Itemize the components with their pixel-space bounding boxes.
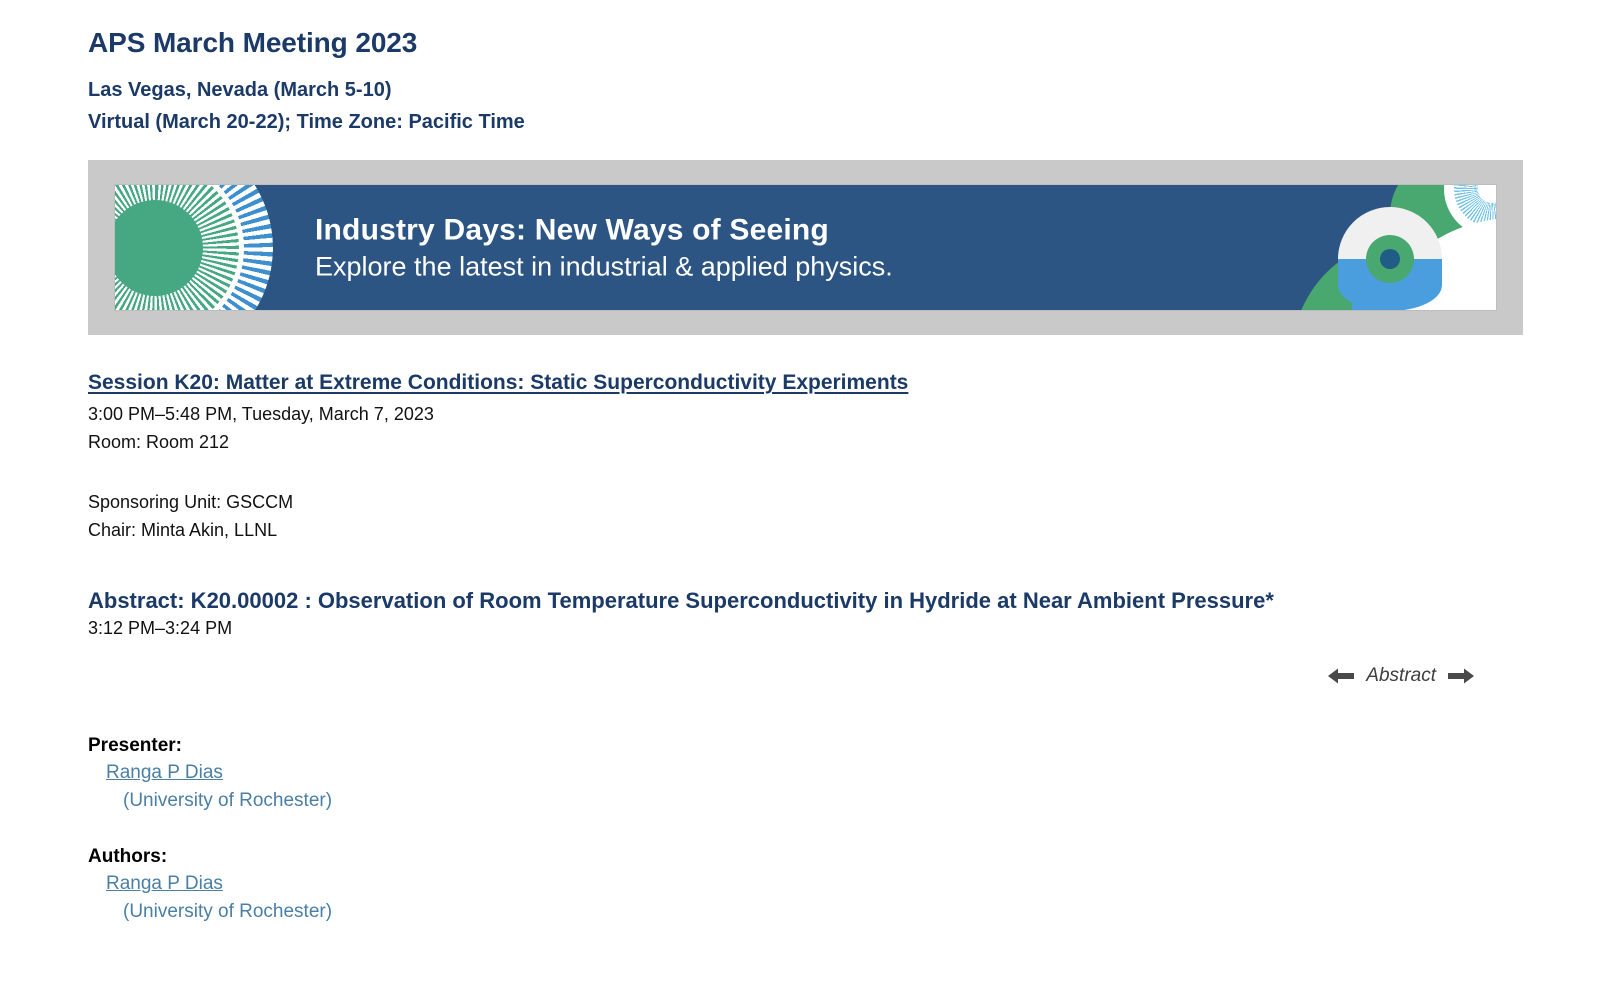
banner-text: Industry Days: New Ways of Seeing Explor… — [315, 212, 893, 283]
right-arrow-icon[interactable] — [1448, 667, 1474, 685]
presenter-block: Presenter: Ranga P Dias (University of R… — [88, 735, 1534, 814]
session-title-link[interactable]: Session K20: Matter at Extreme Condition… — [88, 371, 908, 395]
abstract-time: 3:12 PM–3:24 PM — [88, 618, 1534, 639]
session-time-date: 3:00 PM–5:48 PM, Tuesday, March 7, 2023 — [88, 401, 1534, 429]
left-arrow-icon[interactable] — [1328, 667, 1354, 685]
meeting-location: Las Vegas, Nevada (March 5-10) Virtual (… — [88, 74, 1534, 139]
presenter-heading: Presenter: — [88, 735, 1534, 757]
starburst-icon — [114, 184, 273, 311]
session-meta: 3:00 PM–5:48 PM, Tuesday, March 7, 2023 … — [88, 401, 1534, 457]
author-entry: Ranga P Dias (University of Rochester) — [106, 870, 1534, 925]
meeting-location-line-2: Virtual (March 20-22); Time Zone: Pacifi… — [88, 106, 1534, 138]
abstract-navigation: Abstract — [88, 665, 1534, 687]
presenter-name-link[interactable]: Ranga P Dias — [106, 759, 1534, 787]
author-name-link[interactable]: Ranga P Dias — [106, 870, 1534, 898]
industry-days-banner[interactable]: Industry Days: New Ways of Seeing Explor… — [114, 184, 1497, 311]
eye-motif-icon — [1274, 185, 1497, 310]
people-section: Presenter: Ranga P Dias (University of R… — [88, 735, 1534, 925]
session-room: Room: Room 212 — [88, 429, 1534, 457]
banner-frame: Industry Days: New Ways of Seeing Explor… — [88, 160, 1523, 335]
banner-headline: Industry Days: New Ways of Seeing — [315, 212, 893, 247]
session-sponsoring-unit: Sponsoring Unit: GSCCM — [88, 489, 1534, 517]
presenter-entry: Ranga P Dias (University of Rochester) — [106, 759, 1534, 814]
authors-block: Authors: Ranga P Dias (University of Roc… — [88, 846, 1534, 925]
session-chair: Chair: Minta Akin, LLNL — [88, 517, 1534, 545]
banner-subhead: Explore the latest in industrial & appli… — [315, 251, 893, 284]
session-units: Sponsoring Unit: GSCCM Chair: Minta Akin… — [88, 489, 1534, 545]
meeting-location-line-1: Las Vegas, Nevada (March 5-10) — [88, 74, 1534, 106]
authors-heading: Authors: — [88, 846, 1534, 868]
abstract-nav-label: Abstract — [1366, 665, 1436, 687]
author-affiliation: (University of Rochester) — [123, 898, 1534, 926]
abstract-title: Abstract: K20.00002 : Observation of Roo… — [88, 585, 1478, 616]
page-title: APS March Meeting 2023 — [88, 26, 1534, 60]
page-container: APS March Meeting 2023 Las Vegas, Nevada… — [0, 0, 1622, 925]
presenter-affiliation: (University of Rochester) — [123, 787, 1534, 815]
